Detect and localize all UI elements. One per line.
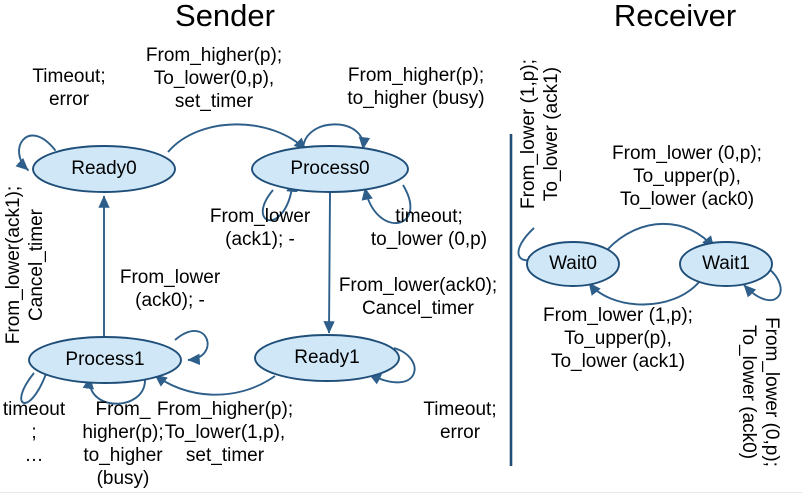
- sender-title: Sender: [105, 0, 345, 34]
- label-process1-self-left: timeout ; …: [0, 398, 70, 467]
- label-ready0-to-process0: From_higher(p); To_lower(0,p), set_timer: [131, 44, 297, 113]
- label-process0-self-right: timeout; to_lower (0,p): [361, 205, 497, 251]
- diagram-canvas: Sender Receiver Ready0 Process0 Process1…: [0, 0, 802, 501]
- state-wait1[interactable]: [680, 242, 772, 286]
- label-ready0-self: Timeout; error: [4, 65, 134, 111]
- bottom-divider: [0, 492, 802, 493]
- receiver-title: Receiver: [560, 0, 790, 34]
- label-wait1-to-wait0: From_lower (1,p); To_upper(p), To_lower …: [523, 304, 713, 373]
- label-ready1-self: Timeout; error: [400, 398, 520, 444]
- label-process0-self-left: From_lower (ack1); -: [188, 205, 332, 251]
- label-wait0-to-wait1: From_lower (0,p); To_upper(p), To_lower …: [592, 142, 782, 211]
- label-process1-to-ready0-left: From_lower(ack1); Cancel_timer: [2, 185, 48, 345]
- label-process1-to-ready0: From_lower (ack0); -: [100, 266, 240, 312]
- label-ready1-to-process1: From_higher(p); To_lower(1,p), set_timer: [142, 398, 308, 467]
- state-process0[interactable]: [252, 146, 408, 192]
- state-ready0[interactable]: [33, 146, 175, 192]
- state-process1[interactable]: [29, 337, 181, 383]
- label-wait0-self: From_lower (1,p); To_lower (ack1): [517, 42, 563, 226]
- label-wait1-self: From_lower (0,p); To_lower (ack0): [737, 300, 783, 484]
- state-ready1[interactable]: [255, 335, 399, 381]
- label-process0-to-ready1: From_lower(ack0); Cancel_timer: [328, 274, 508, 320]
- label-process0-self-top: From_higher(p); to_higher (busy): [330, 64, 502, 110]
- state-wait0[interactable]: [527, 242, 619, 286]
